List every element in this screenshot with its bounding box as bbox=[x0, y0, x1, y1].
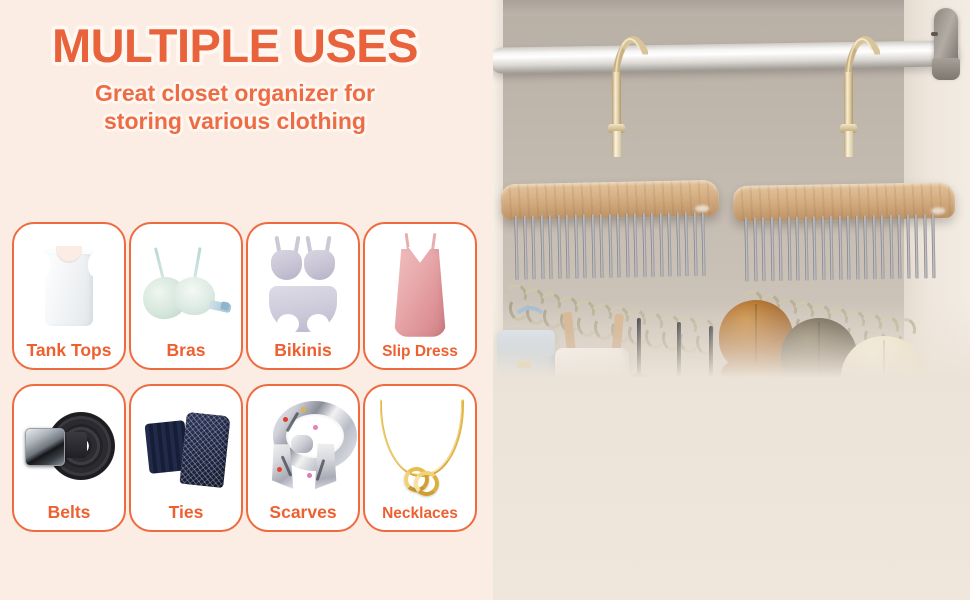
left-info-panel: MULTIPLE USES Great closet organizer for… bbox=[0, 0, 493, 600]
closet-shelf-edge bbox=[493, 0, 970, 16]
use-case-card-necklaces[interactable]: Necklaces bbox=[363, 384, 477, 532]
use-case-grid: Tank Tops Bras bbox=[12, 222, 478, 532]
gold-hanger-hook-left bbox=[611, 36, 645, 148]
card-label: Bras bbox=[167, 342, 206, 369]
card-label: Ties bbox=[169, 504, 204, 531]
use-case-card-ties[interactable]: Ties bbox=[129, 384, 243, 532]
bracket-screw-icon bbox=[931, 32, 938, 36]
metal-rod-row-right bbox=[744, 214, 935, 281]
belt-icon bbox=[14, 386, 124, 504]
necktie-icon bbox=[131, 386, 241, 504]
slip-dress-icon bbox=[365, 224, 475, 344]
card-label: Scarves bbox=[269, 504, 336, 531]
subtitle-line-1: Great closet organizer for bbox=[0, 79, 470, 107]
metal-rod-row-left bbox=[514, 212, 705, 280]
card-label: Belts bbox=[48, 504, 91, 531]
card-label: Necklaces bbox=[382, 506, 458, 531]
infographic-page: MULTIPLE USES Great closet organizer for… bbox=[0, 0, 970, 600]
use-case-card-belts[interactable]: Belts bbox=[12, 384, 126, 532]
rod-bracket-foot bbox=[932, 58, 960, 80]
subtitle: Great closet organizer for storing vario… bbox=[0, 79, 470, 135]
card-label: Slip Dress bbox=[382, 344, 458, 369]
bikini-set-icon bbox=[248, 224, 358, 342]
closet-lower-wall bbox=[493, 300, 970, 600]
headline-block: MULTIPLE USES Great closet organizer for… bbox=[0, 22, 470, 135]
use-case-card-bikinis[interactable]: Bikinis bbox=[246, 222, 360, 370]
necklace-icon bbox=[365, 386, 475, 506]
use-case-card-slip-dress[interactable]: Slip Dress bbox=[363, 222, 477, 370]
subtitle-line-2: storing various clothing bbox=[0, 107, 470, 135]
gold-hanger-hook-right bbox=[843, 36, 877, 148]
use-case-card-bras[interactable]: Bras bbox=[129, 222, 243, 370]
use-case-card-scarves[interactable]: Scarves bbox=[246, 384, 360, 532]
bra-icon bbox=[131, 224, 241, 342]
page-title: MULTIPLE USES bbox=[0, 22, 470, 70]
card-label: Bikinis bbox=[274, 342, 331, 369]
card-label: Tank Tops bbox=[27, 342, 112, 369]
tank-top-icon bbox=[14, 224, 124, 342]
closet-organizer-photo bbox=[493, 0, 970, 600]
scarf-icon bbox=[248, 386, 358, 504]
use-case-card-tank-tops[interactable]: Tank Tops bbox=[12, 222, 126, 370]
